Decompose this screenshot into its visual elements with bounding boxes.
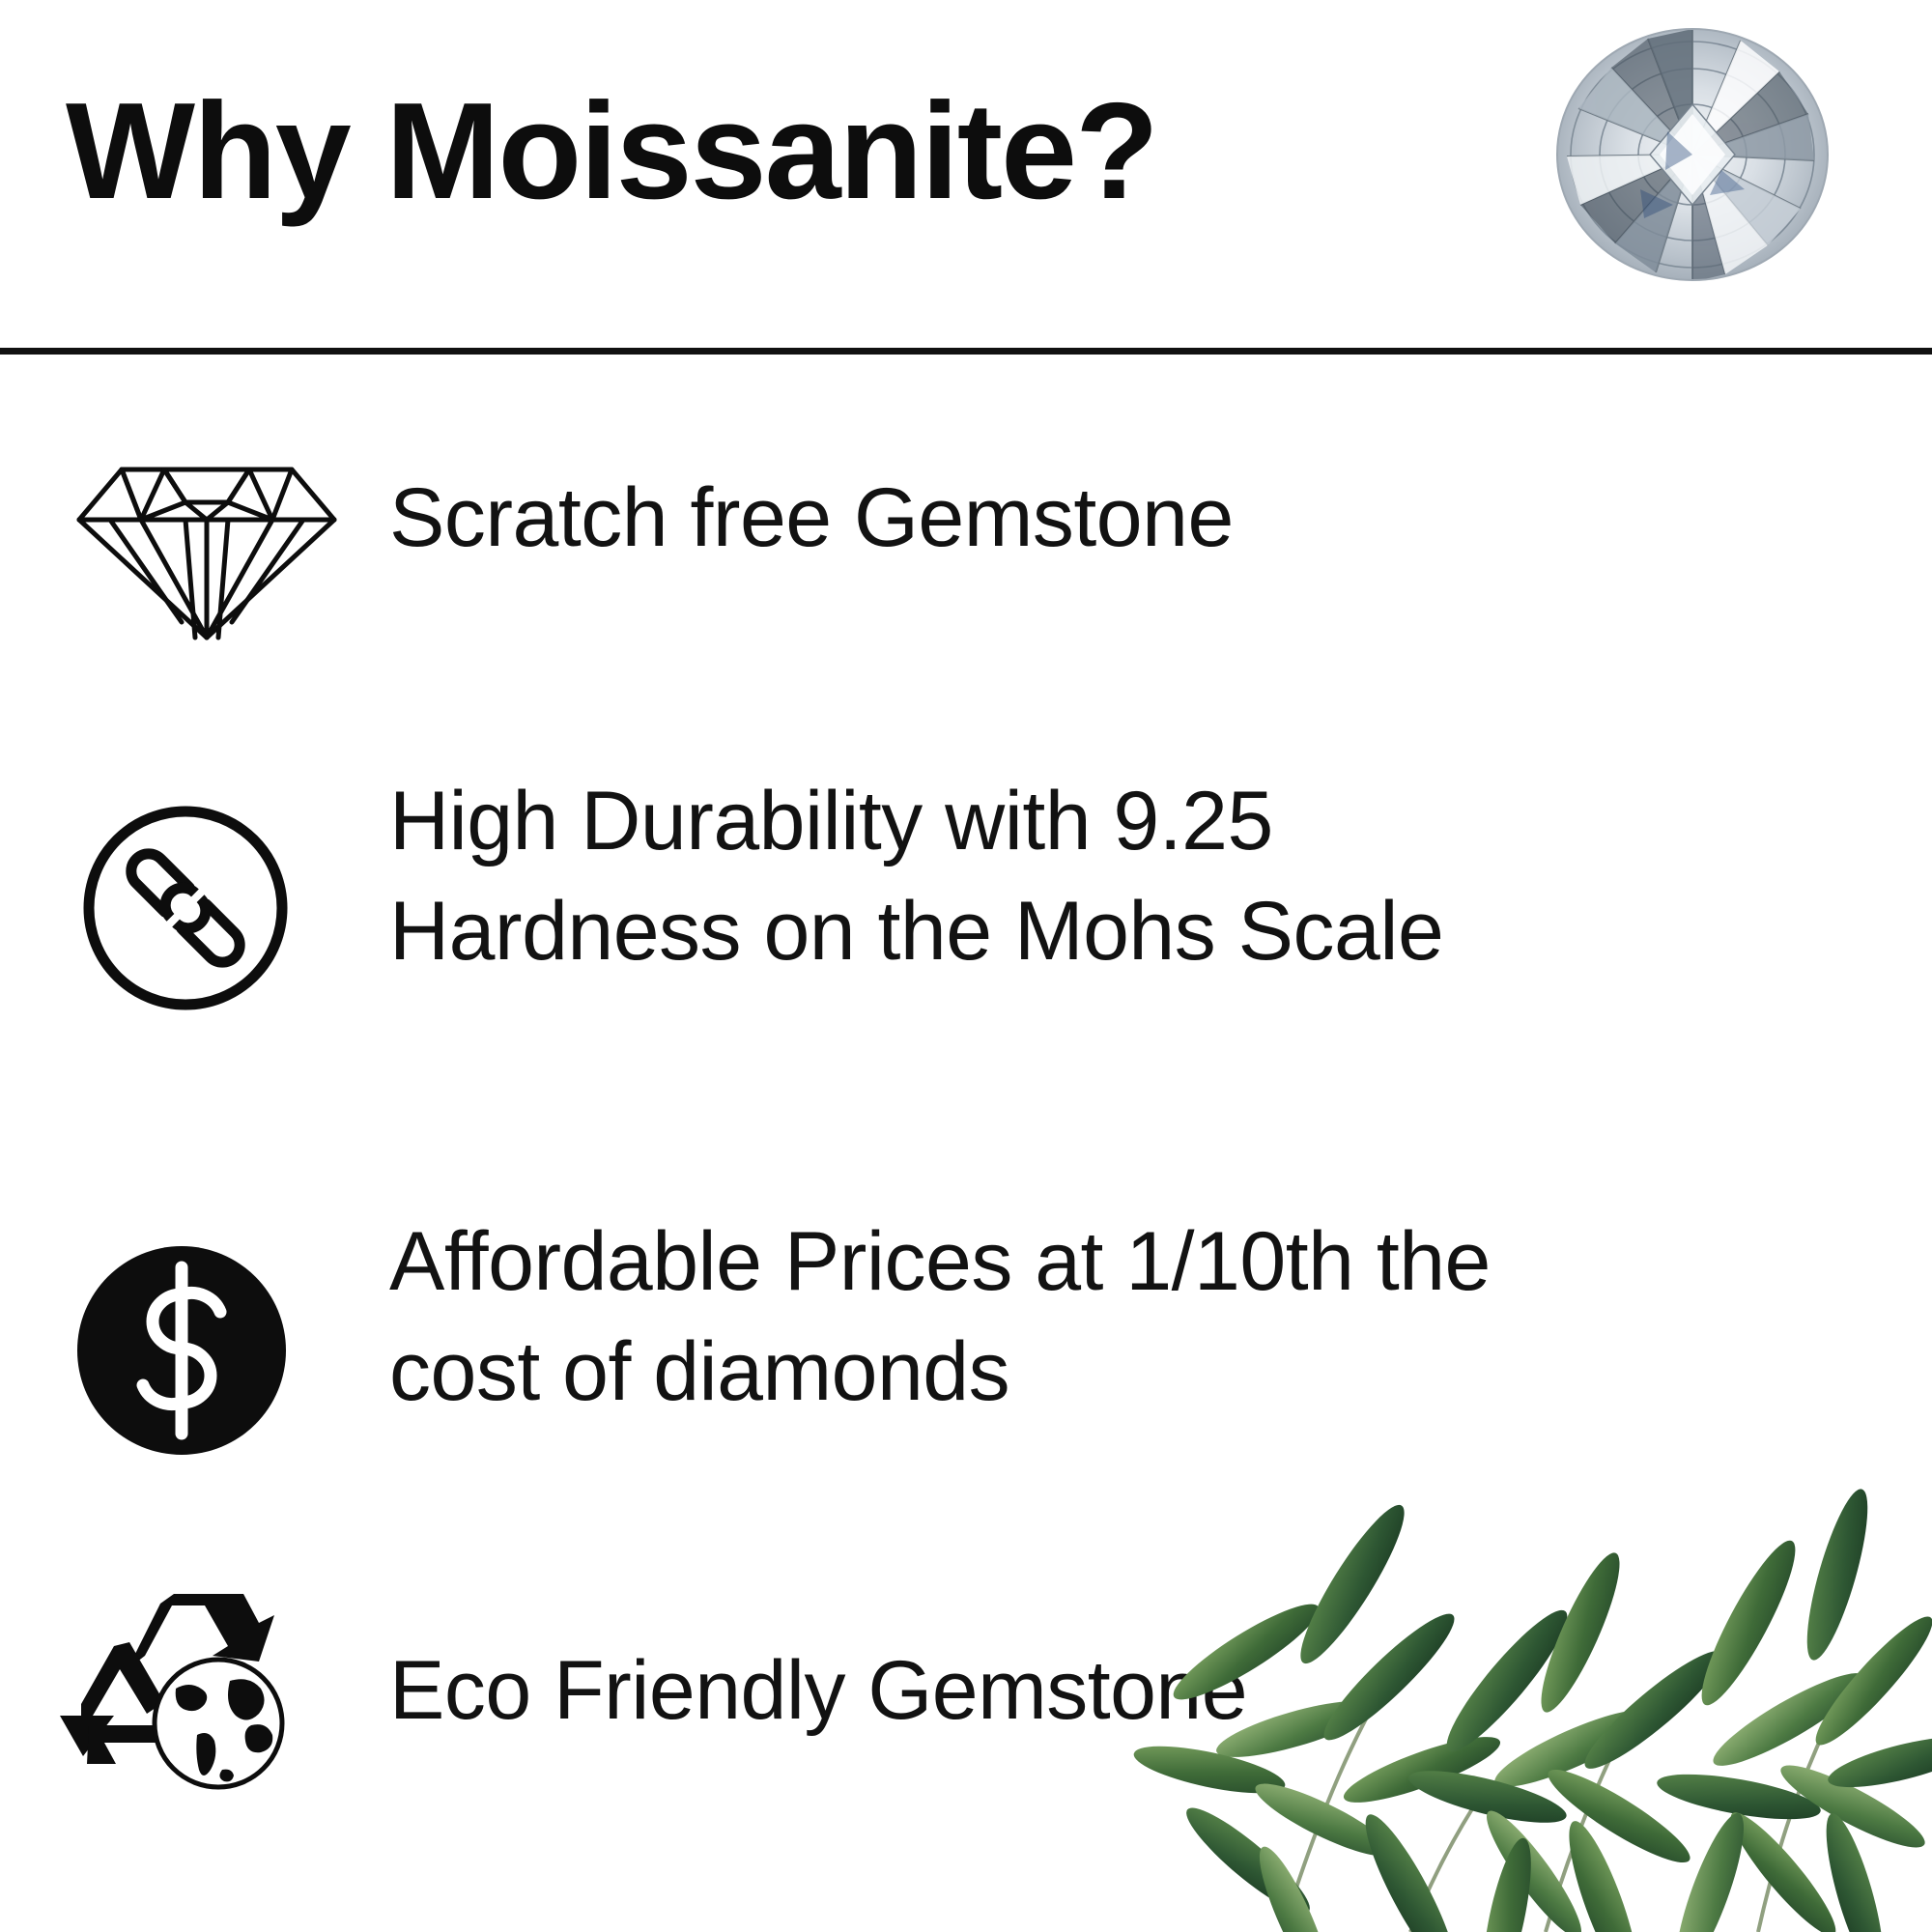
chain-link-circle-icon xyxy=(79,802,292,1014)
feature-row: Affordable Prices at 1/10th the cost of … xyxy=(0,1207,1932,1507)
infographic-canvas: Why Moissanite? xyxy=(0,0,1932,1932)
feature-row: High Durability with 9.25 Hardness on th… xyxy=(0,763,1932,1053)
feature-row: Eco Friendly Gemstone xyxy=(0,1565,1932,1835)
header-divider xyxy=(0,348,1932,355)
diamond-photo-icon xyxy=(1551,25,1833,284)
feature-label: Scratch free Gemstone xyxy=(389,464,1234,574)
feature-label: Eco Friendly Gemstone xyxy=(389,1636,1247,1747)
page-title: Why Moissanite? xyxy=(66,79,1157,223)
feature-label: High Durability with 9.25 Hardness on th… xyxy=(389,767,1443,986)
dollar-coin-icon xyxy=(73,1242,290,1459)
feature-label: Affordable Prices at 1/10th the cost of … xyxy=(389,1207,1491,1427)
recycle-globe-icon xyxy=(60,1580,298,1797)
feature-row: Scratch free Gemstone xyxy=(0,415,1932,676)
header: Why Moissanite? xyxy=(0,0,1932,353)
diamond-outline-icon xyxy=(75,452,338,641)
